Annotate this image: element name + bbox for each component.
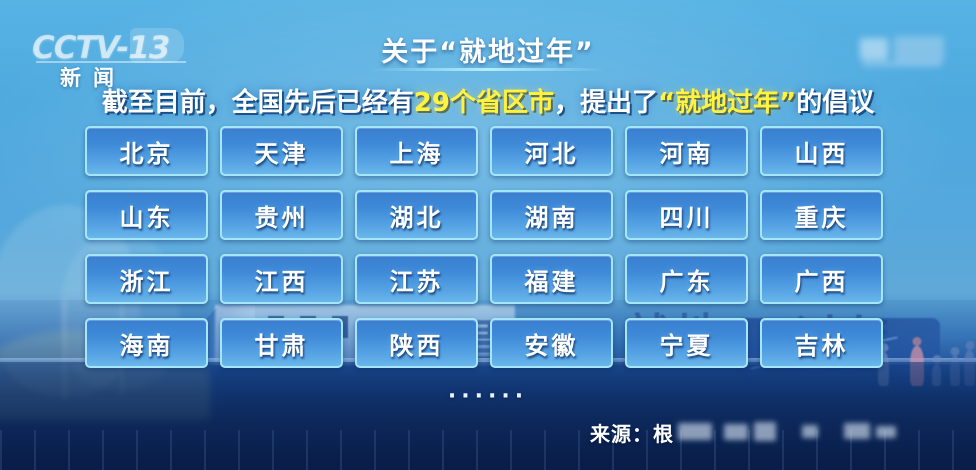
province-chip[interactable]: 贵州 <box>220 190 343 240</box>
province-chip[interactable]: 湖南 <box>490 190 613 240</box>
source-redacted-text <box>676 420 901 444</box>
province-chip[interactable]: 山西 <box>760 126 883 176</box>
province-chip[interactable]: 宁夏 <box>625 318 748 368</box>
province-chip[interactable]: 福建 <box>490 254 613 304</box>
province-chip[interactable]: 山东 <box>85 190 208 240</box>
subtitle: 截至目前，全国先后已经有29个省区市，提出了“就地过年”的倡议 <box>0 82 976 119</box>
province-chip[interactable]: 河北 <box>490 126 613 176</box>
page-title: 关于“就地过年” <box>0 30 976 69</box>
province-chip[interactable]: 安徽 <box>490 318 613 368</box>
province-chip[interactable]: 江苏 <box>355 254 478 304</box>
province-grid: 北京天津上海河北河南山西山东贵州湖北湖南四川重庆浙江江西江苏福建广东广西海南甘肃… <box>85 126 891 368</box>
province-chip[interactable]: 河南 <box>625 126 748 176</box>
province-chip[interactable]: 上海 <box>355 126 478 176</box>
province-chip[interactable]: 广东 <box>625 254 748 304</box>
subtitle-highlight: “就地过年” <box>658 88 796 118</box>
source-label: 来源：根 <box>590 418 674 447</box>
source-attribution: 来源：根 <box>590 419 901 445</box>
province-chip[interactable]: 陕西 <box>355 318 478 368</box>
province-chip[interactable]: 天津 <box>220 126 343 176</box>
subtitle-highlight: 29个省区市 <box>414 88 554 118</box>
province-chip[interactable]: 浙江 <box>85 254 208 304</box>
subtitle-text: ，提出了 <box>554 88 658 118</box>
province-chip[interactable]: 重庆 <box>760 190 883 240</box>
ellipsis-indicator: ······ <box>0 384 976 409</box>
broadcast-screen: 倡导 就地 过年 CCTV-13 新闻 关于“就地过年” 截至目前，全国先后已经… <box>0 0 976 470</box>
province-chip[interactable]: 江西 <box>220 254 343 304</box>
subtitle-text: 的倡议 <box>796 88 874 118</box>
province-chip[interactable]: 吉林 <box>760 318 883 368</box>
province-chip[interactable]: 湖北 <box>355 190 478 240</box>
province-chip[interactable]: 甘肃 <box>220 318 343 368</box>
province-chip[interactable]: 四川 <box>625 190 748 240</box>
province-chip[interactable]: 北京 <box>85 126 208 176</box>
province-chip[interactable]: 海南 <box>85 318 208 368</box>
title-underline <box>370 68 606 71</box>
province-chip[interactable]: 广西 <box>760 254 883 304</box>
subtitle-text: 截至目前，全国先后已经有 <box>102 88 414 118</box>
